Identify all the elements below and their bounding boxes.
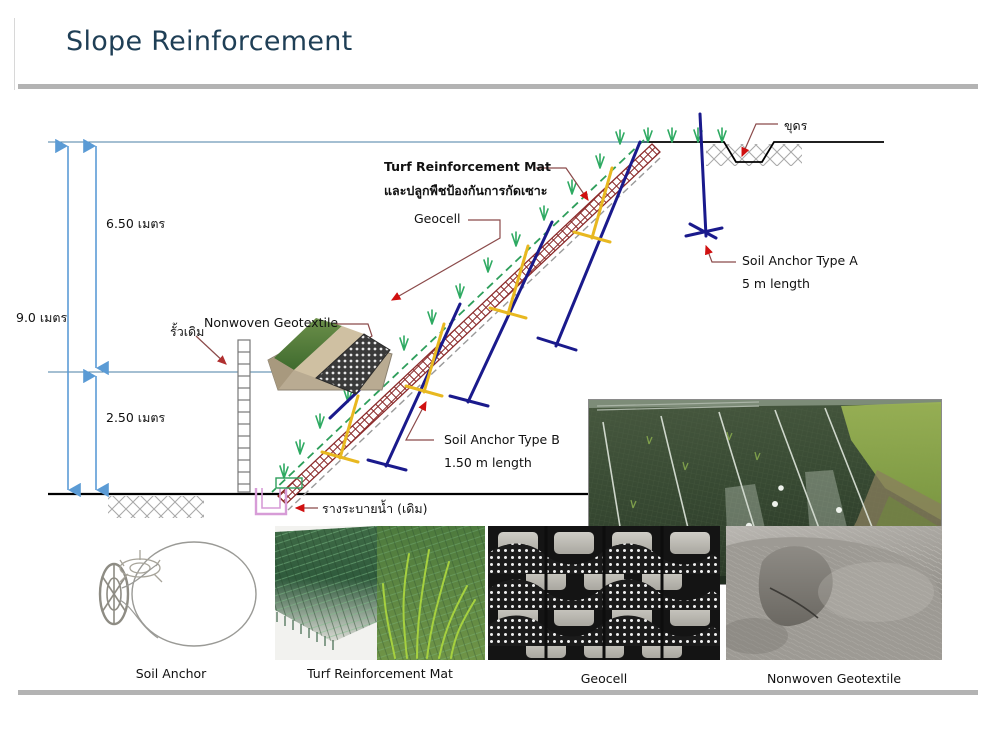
dimension-total-label: 9.0 เมตร: [16, 308, 67, 328]
footer-divider: [18, 690, 978, 695]
page-title: Slope Reinforcement: [66, 26, 353, 57]
photo-turf-reinforcement-mat: [275, 526, 485, 660]
label-nonwoven-geotextile: Nonwoven Geotextile: [204, 315, 338, 330]
label-soil-anchor-type-b-length: 1.50 m length: [444, 455, 532, 470]
title-divider: [18, 84, 978, 89]
photo-nonwoven-geotextile: [726, 526, 942, 660]
caption-geocell: Geocell: [488, 671, 720, 686]
caption-soil-anchor: Soil Anchor: [62, 666, 280, 681]
product-photo-strip: Soil Anchor Turf Reinforcement Mat Geoce…: [0, 524, 996, 684]
dimension-lower-label: 2.50 เมตร: [106, 408, 165, 428]
label-existing-fence-thai: รั้วเดิม: [170, 322, 204, 342]
label-soil-anchor-type-b: Soil Anchor Type B: [444, 432, 560, 447]
label-turf-reinforcement-mat: Turf Reinforcement Mat: [384, 159, 551, 174]
left-edge-rule: [14, 18, 15, 90]
slide-root: Slope Reinforcement: [0, 0, 996, 748]
caption-turf-reinforcement-mat: Turf Reinforcement Mat: [275, 666, 485, 681]
label-turf-reinforcement-mat-thai: และปลูกพืชป้องกันการกัดเซาะ: [384, 181, 547, 201]
dimension-upper-label: 6.50 เมตร: [106, 214, 165, 234]
slope-cross-section-diagram: 9.0 เมตร 6.50 เมตร 2.50 เมตร Turf Reinfo…: [0, 96, 996, 526]
label-trench-thai: ขุดร: [784, 116, 807, 136]
label-existing-drain-thai: รางระบายน้ำ (เดิม): [322, 499, 427, 519]
label-soil-anchor-type-a: Soil Anchor Type A: [742, 253, 858, 268]
label-soil-anchor-type-a-length: 5 m length: [742, 276, 810, 291]
photo-soil-anchor: [62, 530, 280, 658]
photo-geocell: [488, 526, 720, 660]
caption-nonwoven-geotextile: Nonwoven Geotextile: [726, 671, 942, 686]
geocell-cutaway-thumbnail: [264, 298, 396, 398]
label-geocell: Geocell: [414, 211, 461, 226]
